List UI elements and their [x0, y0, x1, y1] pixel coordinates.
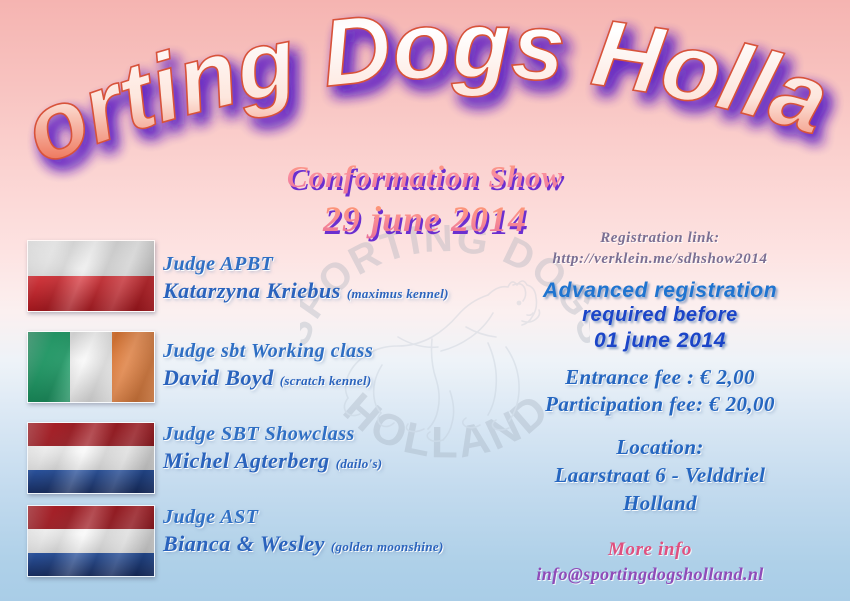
participation-fee: Participation fee: € 20,00	[470, 391, 850, 418]
judge-name-line: David Boyd (scratch kennel)	[163, 364, 373, 394]
advanced-registration-line-2: required before	[470, 303, 850, 328]
judge-kennel: (maximus kennel)	[347, 286, 449, 301]
judge-role: Judge SBT Showclass	[163, 422, 382, 447]
entrance-fee: Entrance fee : € 2,00	[470, 364, 850, 391]
registration-link-label: Registration link:	[470, 228, 850, 249]
netherlands-flag-1	[27, 422, 155, 494]
judge-name: David Boyd	[163, 365, 274, 390]
poster-canvas: SPORTING DOGS HOLLAND	[0, 0, 850, 601]
contact-email[interactable]: info@sportingdogsholland.nl	[450, 562, 850, 586]
judge-kennel: (golden moonshine)	[331, 539, 444, 554]
location-block: Location: Laarstraat 6 - Velddriel Holla…	[470, 433, 850, 517]
judge-entry-ast: Judge AST Bianca & Wesley (golden moonsh…	[163, 505, 444, 560]
ireland-flag	[27, 331, 155, 403]
judge-kennel: (scratch kennel)	[280, 373, 372, 388]
subtitle-line-1: Conformation Show	[0, 158, 850, 196]
title-svg: Sporting Dogs Holland Sporting Dogs Holl…	[0, 14, 850, 174]
judge-name: Katarzyna Kriebus	[163, 278, 341, 303]
judge-entry-sbt-working: Judge sbt Working class David Boyd (scra…	[163, 339, 373, 394]
advanced-registration-notice: Advanced registration required before 01…	[470, 278, 850, 353]
more-info-label: More info	[450, 538, 850, 562]
fees-block: Entrance fee : € 2,00 Participation fee:…	[470, 364, 850, 418]
judge-role: Judge APBT	[163, 252, 449, 277]
judge-role: Judge sbt Working class	[163, 339, 373, 364]
registration-link-block: Registration link: http://verklein.me/sd…	[470, 228, 850, 270]
contact-block: More info info@sportingdogsholland.nl	[450, 538, 850, 586]
location-address: Laarstraat 6 - Velddriel	[470, 461, 850, 489]
judge-role: Judge AST	[163, 505, 444, 530]
poland-flag	[27, 240, 155, 312]
judge-name: Michel Agterberg	[163, 448, 330, 473]
judge-name-line: Michel Agterberg (dailo's)	[163, 447, 382, 477]
judge-entry-sbt-show: Judge SBT Showclass Michel Agterberg (da…	[163, 422, 382, 477]
judge-entry-apbt: Judge APBT Katarzyna Kriebus (maximus ke…	[163, 252, 449, 307]
judge-name-line: Bianca & Wesley (golden moonshine)	[163, 530, 444, 560]
location-label: Location:	[470, 433, 850, 461]
location-country: Holland	[470, 489, 850, 517]
judge-kennel: (dailo's)	[336, 456, 383, 471]
poster-title: Sporting Dogs Holland Sporting Dogs Holl…	[0, 14, 850, 174]
judge-name: Bianca & Wesley	[163, 531, 325, 556]
advanced-registration-line-1: Advanced registration	[470, 278, 850, 303]
judge-name-line: Katarzyna Kriebus (maximus kennel)	[163, 277, 449, 307]
advanced-registration-deadline: 01 june 2014	[470, 328, 850, 353]
registration-link-url[interactable]: http://verklein.me/sdhshow2014	[470, 249, 850, 270]
netherlands-flag-2	[27, 505, 155, 577]
